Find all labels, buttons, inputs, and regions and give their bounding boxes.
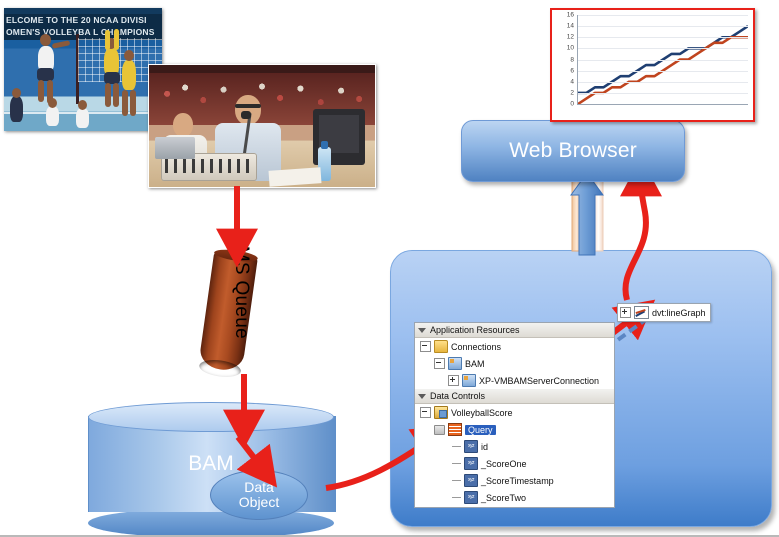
data-pipe-left (572, 179, 581, 251)
connection-icon (462, 374, 476, 387)
chart-y-tick: 4 (570, 78, 574, 85)
chart-y-tick: 2 (570, 89, 574, 96)
expand-icon[interactable] (620, 307, 631, 318)
section-header-application-resources[interactable]: Application Resources (415, 323, 614, 338)
scorers-table-photo (148, 64, 376, 188)
data-control-icon (434, 406, 448, 419)
player-backrow-one-head (48, 98, 57, 108)
tree-node-query[interactable]: Query (415, 421, 614, 438)
player-blocker-one-arm-left (105, 30, 110, 50)
tree-node-label: _ScoreTwo (481, 493, 526, 503)
volleyball-match-photo: ELCOME TO THE 20 NCAA DIVISI OMEN'S VOLL… (4, 8, 162, 131)
person-center-microphone (241, 111, 251, 119)
cylinder-top (88, 402, 334, 432)
connection-icon (448, 357, 462, 370)
tree-node-label: Query (465, 425, 496, 435)
chart-gridline (578, 71, 748, 72)
tree-node-bam[interactable]: BAM (415, 355, 614, 372)
tree-node-volleyballscore[interactable]: VolleyballScore (415, 404, 614, 421)
attribute-icon: xyz (464, 474, 478, 487)
dvt-linegraph-label: dvt:lineGraph (652, 308, 706, 318)
chart-y-tick: 8 (570, 56, 574, 63)
chart-y-tick: 14 (567, 23, 574, 30)
tree-node-scoreone[interactable]: xyz _ScoreOne (415, 455, 614, 472)
player-blocker-one-arm-right (114, 29, 119, 50)
line-graph-icon (634, 306, 649, 319)
chart-y-tick: 10 (567, 45, 574, 52)
chart-y-tick: 6 (570, 67, 574, 74)
tree-node-label: BAM (465, 359, 485, 369)
attribute-icon: xyz (464, 440, 478, 453)
player-backrow-two (76, 108, 89, 128)
chart-plot (577, 15, 748, 105)
collapse-icon[interactable] (434, 358, 445, 369)
player-attacker-head (40, 34, 51, 46)
cylinder-bottom (88, 508, 334, 537)
section-header-data-controls[interactable]: Data Controls (415, 389, 614, 404)
tree-node-label: XP-VMBAMServerConnection (479, 376, 599, 386)
player-backrow-two-head (78, 100, 87, 110)
player-blocker-two-leg-left (122, 90, 128, 116)
tree-node-label: Connections (451, 342, 501, 352)
chart-y-tick: 12 (567, 34, 574, 41)
bam-label: BAM (88, 452, 334, 476)
web-browser-label: Web Browser (509, 139, 637, 163)
chart-y-axis: 0246810121416 (555, 13, 577, 117)
player-blocker-two-leg-right (130, 90, 136, 116)
chart-y-tick: 0 (570, 101, 574, 108)
bam-database-cylinder: BAM Data Object (88, 404, 334, 524)
banner-line-2: OMEN'S VOLLEYBA L CHAMPIONS (4, 26, 162, 38)
data-object-ellipse: Data Object (210, 470, 308, 520)
chart-gridline (578, 26, 748, 27)
tree-line (452, 446, 461, 447)
section-label: Data Controls (430, 389, 485, 403)
person-center-glasses (235, 104, 261, 108)
web-browser-box[interactable]: Web Browser (461, 120, 685, 182)
chart-gridline (578, 15, 748, 16)
tree-node-connections[interactable]: Connections (415, 338, 614, 355)
tree-node-label: id (481, 442, 488, 452)
person-left-head (173, 113, 193, 137)
chart-gridline (578, 93, 748, 94)
chevron-down-icon[interactable] (418, 394, 426, 399)
query-icon (448, 423, 462, 436)
collapse-icon[interactable] (420, 341, 431, 352)
dvt-linegraph-node[interactable]: dvt:lineGraph (617, 303, 711, 322)
player-blocker-one-leg-left (105, 83, 111, 107)
lock-icon (434, 425, 445, 435)
tree-node-label: VolleyballScore (451, 408, 513, 418)
player-blocker-two-head (124, 50, 134, 61)
player-blocker-two-torso (122, 60, 136, 90)
attribute-icon: xyz (464, 457, 478, 470)
data-object-label-line-1: Data (244, 480, 274, 495)
tree-node-scoretwo[interactable]: xyz _ScoreTwo (415, 489, 614, 506)
line-graph-card: 0246810121416 (550, 8, 755, 122)
chart-gridline (578, 37, 748, 38)
collapse-icon[interactable] (420, 407, 431, 418)
expand-icon[interactable] (448, 375, 459, 386)
chart-gridline (578, 82, 748, 83)
chevron-down-icon[interactable] (418, 328, 426, 333)
diagram-canvas: ELCOME TO THE 20 NCAA DIVISI OMEN'S VOLL… (0, 0, 779, 537)
tree-node-label: _ScoreTimestamp (481, 476, 554, 486)
data-object-label-line-2: Object (239, 495, 279, 510)
jdeveloper-tree-panel[interactable]: Application Resources Connections BAM XP… (414, 322, 615, 508)
chart-y-tick: 16 (567, 12, 574, 19)
tree-node-xp-vmbamserverconnection[interactable]: XP-VMBAMServerConnection (415, 372, 614, 389)
chart-gridline (578, 60, 748, 61)
player-bench-head (12, 88, 21, 98)
line-graph-plot-area: 0246810121416 (555, 13, 750, 117)
tree-line (452, 463, 461, 464)
player-blocker-one-leg-right (113, 83, 119, 107)
data-pipe-right (594, 179, 603, 251)
tree-line (452, 497, 461, 498)
tree-node-scoretimestamp[interactable]: xyz _ScoreTimestamp (415, 472, 614, 489)
tree-line (452, 480, 461, 481)
chart-gridline (578, 48, 748, 49)
arrow-panel-to-browser-blue (571, 173, 603, 255)
tree-node-id[interactable]: xyz id (415, 438, 614, 455)
tree-node-teamone[interactable]: xyz _TeamOne (415, 506, 614, 508)
folder-icon (434, 340, 448, 353)
attribute-icon: xyz (464, 491, 478, 504)
player-bench (10, 96, 23, 122)
banner-line-1: ELCOME TO THE 20 NCAA DIVISI (4, 14, 162, 26)
laptop-computer (155, 137, 195, 159)
player-backrow-one (46, 106, 59, 126)
arena-banner: ELCOME TO THE 20 NCAA DIVISI OMEN'S VOLL… (4, 14, 162, 40)
tree-node-label: _ScoreOne (481, 459, 527, 469)
jms-queue-label: JMS Queue (230, 236, 252, 366)
section-label: Application Resources (430, 323, 520, 337)
player-attacker-leg-left (38, 80, 44, 102)
